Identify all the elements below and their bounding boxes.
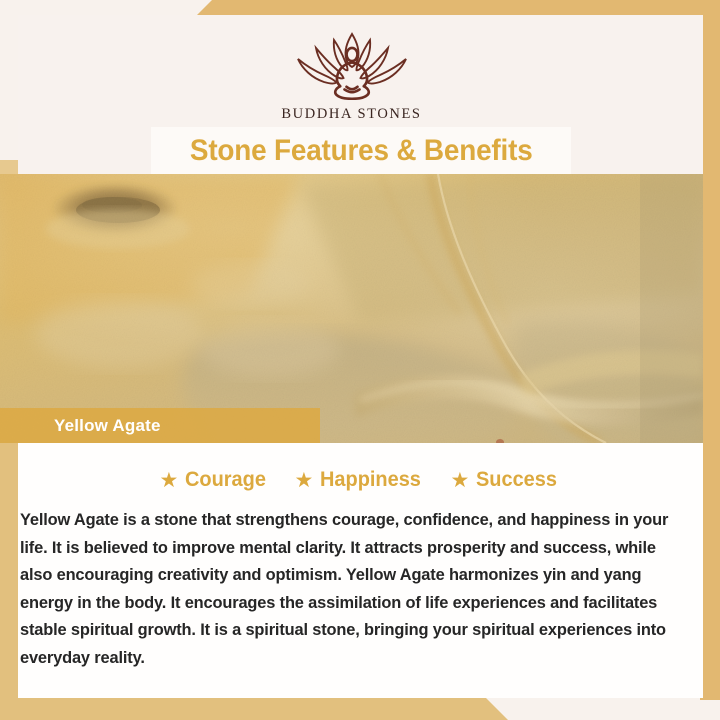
benefit-item: ★ Success: [450, 468, 561, 492]
benefit-label: Success: [476, 468, 557, 492]
page-title: Stone Features & Benefits: [190, 134, 533, 168]
star-icon: ★: [159, 470, 178, 491]
brand-name: BUDDHA STONES: [281, 106, 421, 123]
benefit-item: ★ Courage: [159, 468, 270, 492]
right-gold-band: [700, 0, 720, 700]
benefit-label: Happiness: [320, 468, 421, 492]
stone-name-chip: Yellow Agate: [0, 408, 320, 443]
stone-photo: [0, 174, 703, 443]
bottom-gold-band: [0, 698, 720, 720]
benefit-label: Courage: [185, 468, 266, 492]
top-gold-band: [0, 0, 720, 16]
benefit-item: ★ Happiness: [294, 468, 426, 492]
title-banner: Stone Features & Benefits: [151, 127, 571, 174]
star-icon: ★: [450, 470, 469, 491]
infographic-page: BUDDHA STONES Stone Features & Benefits: [0, 0, 720, 720]
benefits-row: ★ Courage ★ Happiness ★ Success: [18, 468, 703, 492]
stone-description: Yellow Agate is a stone that strengthens…: [20, 507, 692, 673]
lotus-meditation-icon: [288, 28, 416, 100]
brand-logo: BUDDHA STONES: [0, 28, 703, 123]
stone-name-label: Yellow Agate: [54, 416, 161, 436]
yellow-agate-texture: [0, 174, 703, 443]
star-icon: ★: [294, 470, 313, 491]
left-gold-band: [0, 443, 18, 698]
